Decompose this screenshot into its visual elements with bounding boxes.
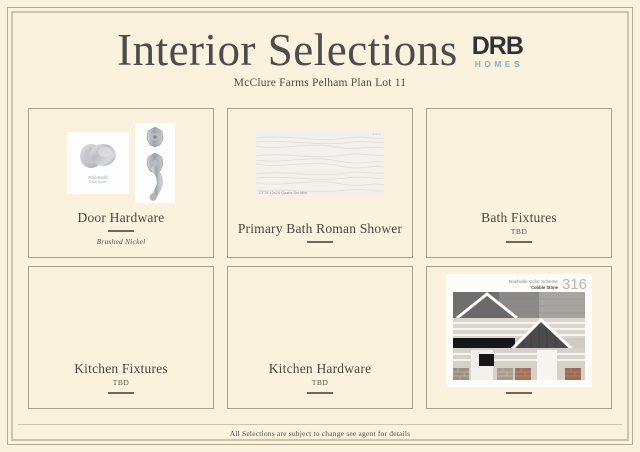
tile-corner-note: 1 of 1 (372, 132, 380, 136)
card-divider (307, 241, 333, 243)
color-scheme-header: Nashville Color Scheme Cobble Stone 316 (509, 277, 587, 292)
selection-card-bath-fixtures[interactable]: Bath Fixtures TBD (426, 108, 612, 258)
shower-tile-media: 1 of 1 CT7S 12x24 Quartz Sei Mint (228, 117, 412, 209)
tile-caption: CT7S 12x24 Quartz Sei Mint (259, 191, 307, 195)
card-title: Door Hardware (29, 209, 213, 226)
page-title: Interior Selections (117, 26, 458, 74)
shower-caption: Primary Bath Roman Shower (228, 220, 412, 247)
footer-divider (18, 424, 622, 425)
color-scheme-name: Nashville Color Scheme (509, 279, 558, 285)
page-subtitle: McClure Farms Pelham Plan Lot 11 (18, 77, 622, 89)
page-header: Interior Selections DRB HOMES McClure Fa… (18, 16, 622, 94)
polo-knob-swatch: Polo Knob Satin Nickel (67, 132, 129, 194)
color-scheme-number: 316 (562, 277, 587, 292)
bath-fixtures-caption: Bath Fixtures TBD (427, 209, 611, 247)
card-title: Kitchen Fixtures (29, 360, 213, 377)
door-hardware-media: Polo Knob Satin Nickel (29, 117, 213, 209)
card-divider (506, 241, 532, 243)
handleset-swatch (135, 123, 175, 203)
door-hardware-caption: Door Hardware Brushed Nickel (29, 209, 213, 247)
title-row: Interior Selections DRB HOMES (18, 16, 622, 74)
selection-card-kitchen-fixtures[interactable]: Kitchen Fixtures TBD (28, 266, 214, 409)
door-handleset-icon (140, 125, 170, 201)
card-divider (108, 230, 134, 232)
kitchen-fixtures-caption: Kitchen Fixtures TBD (29, 360, 213, 398)
footer-note: All Selections are subject to change see… (0, 429, 640, 438)
drb-homes-logo: DRB HOMES (472, 34, 523, 70)
door-knob-icon (72, 137, 124, 175)
card-subtitle: TBD (427, 226, 611, 237)
interior-selections-page: Interior Selections DRB HOMES McClure Fa… (0, 0, 640, 452)
color-scheme-caption (427, 388, 611, 398)
card-title: Bath Fixtures (427, 209, 611, 226)
color-scheme-names: Nashville Color Scheme Cobble Stone (509, 279, 558, 291)
card-divider (307, 392, 333, 394)
knob-label: Polo Knob Satin Nickel (88, 175, 107, 185)
card-title: Primary Bath Roman Shower (228, 220, 412, 237)
card-title: Kitchen Hardware (228, 360, 412, 377)
card-divider (506, 392, 532, 394)
house-elevation-icon (453, 292, 585, 380)
card-divider (108, 392, 134, 394)
selection-card-door-hardware[interactable]: Polo Knob Satin Nickel (28, 108, 214, 258)
card-subtitle: TBD (29, 377, 213, 388)
selection-card-exterior-color-scheme[interactable]: Nashville Color Scheme Cobble Stone 316 (426, 266, 612, 409)
marble-tile-icon (256, 130, 384, 196)
color-scheme-color-name: Cobble Stone (509, 285, 558, 291)
color-scheme-board: Nashville Color Scheme Cobble Stone 316 (446, 274, 592, 387)
selections-grid: Polo Knob Satin Nickel (28, 108, 612, 409)
knob-label-line2: Satin Nickel (88, 180, 107, 185)
selection-card-kitchen-hardware[interactable]: Kitchen Hardware TBD (227, 266, 413, 409)
drb-logo-wordmark: HOMES (475, 59, 523, 70)
tile-swatch: 1 of 1 CT7S 12x24 Quartz Sei Mint (256, 130, 384, 196)
selection-card-primary-bath-roman-shower[interactable]: 1 of 1 CT7S 12x24 Quartz Sei Mint Primar… (227, 108, 413, 258)
drb-logo-mark: DRB (472, 34, 523, 59)
card-subtitle: TBD (228, 377, 412, 388)
card-subtitle: Brushed Nickel (29, 236, 213, 247)
kitchen-hardware-caption: Kitchen Hardware TBD (228, 360, 412, 398)
